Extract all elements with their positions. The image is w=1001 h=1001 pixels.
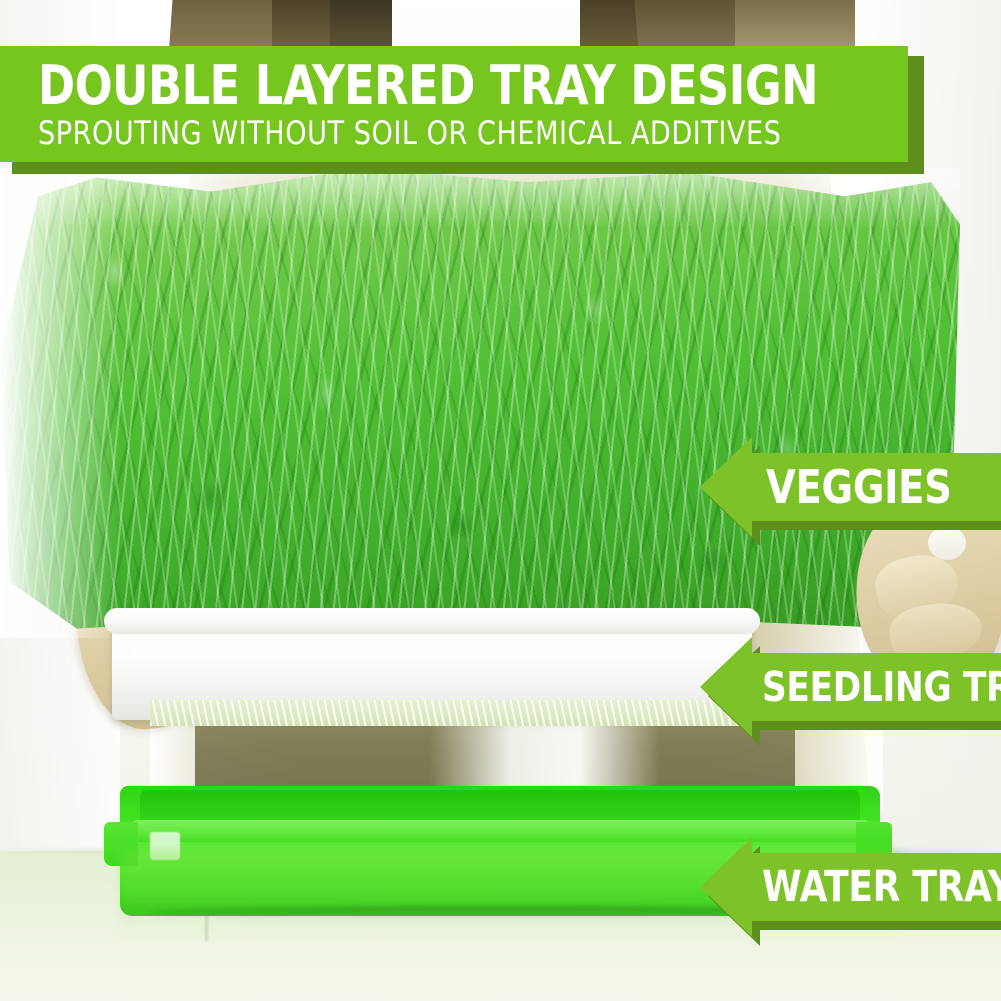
callout-water-tray: WATER TRAY <box>700 837 1001 937</box>
pea-sprouts-highlights <box>0 168 960 638</box>
sprouts-top-fade <box>0 168 960 228</box>
product-infographic: DOUBLE LAYERED TRAY DESIGN SPROUTING WIT… <box>0 0 1001 1001</box>
callout-label-water-tray: WATER TRAY <box>762 864 1001 910</box>
header-banner: DOUBLE LAYERED TRAY DESIGN SPROUTING WIT… <box>0 46 908 162</box>
white-tray-rim <box>104 608 760 634</box>
green-tray-interior <box>140 790 860 824</box>
callout-label-veggies: VEGGIES <box>766 464 952 510</box>
root-mat <box>150 700 750 726</box>
white-tray-highlight <box>130 640 720 662</box>
page-subtitle: SPROUTING WITHOUT SOIL OR CHEMICAL ADDIT… <box>38 117 856 150</box>
page-title: DOUBLE LAYERED TRAY DESIGN <box>38 59 838 113</box>
callout-label-seedling-tray: SEEDLING TRAY <box>762 664 1001 710</box>
sprouts-left-fade <box>0 168 120 638</box>
callout-seedling-tray: SEEDLING TRAY <box>700 637 1001 737</box>
callout-veggies: VEGGIES <box>700 437 1001 537</box>
